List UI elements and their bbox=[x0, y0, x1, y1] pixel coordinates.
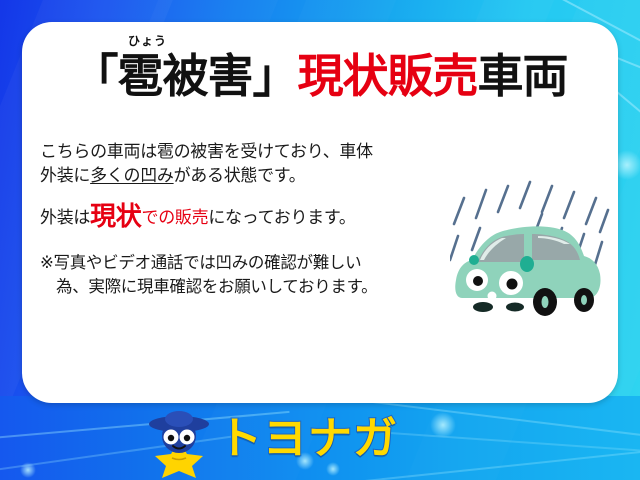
paragraph-3-line-2: 為、実際に現車確認をお願いしております。 bbox=[40, 276, 460, 300]
paragraph-1-line-2-prefix: 外装に bbox=[40, 166, 90, 185]
paragraph-2-emphasis-large: 現状 bbox=[90, 201, 141, 231]
title-ruby-text: ひょう bbox=[117, 35, 179, 47]
title-segment-2: 現状販売 bbox=[298, 50, 478, 102]
title-segment-3: 車両 bbox=[478, 50, 568, 102]
info-card: ひょう 「雹被害」現状販売車両 こちらの車両は雹の被害を受けており、車体 外装に… bbox=[22, 22, 618, 403]
title-ruby-holder: ひょう 「雹被害」現状販売車両 bbox=[73, 38, 568, 101]
paragraph-1-line-1: こちらの車両は雹の被害を受けており、車体 bbox=[40, 140, 460, 164]
paragraph-1: こちらの車両は雹の被害を受けており、車体 外装に多くの凹みがある状態です。 bbox=[40, 140, 460, 188]
brand-name: トヨナガ bbox=[218, 417, 398, 461]
paragraph-2-emphasis-small: での販売 bbox=[142, 208, 209, 227]
page-title: ひょう 「雹被害」現状販売車両 bbox=[22, 38, 618, 101]
paragraph-1-underlined-phrase: 多くの凹み bbox=[90, 166, 174, 185]
body-text-block: こちらの車両は雹の被害を受けており、車体 外装に多くの凹みがある状態です。 外装… bbox=[40, 140, 460, 300]
cartoon-car-in-hail-icon bbox=[450, 180, 614, 342]
paragraph-2-suffix: になっております。 bbox=[208, 208, 355, 227]
paragraph-2-prefix: 外装は bbox=[40, 208, 90, 227]
paragraph-2: 外装は現状での販売になっております。 bbox=[40, 201, 460, 232]
title-segment-1: 「雹被害」 bbox=[73, 50, 298, 102]
toyonaga-mascot-icon bbox=[142, 408, 216, 478]
paragraph-3-line-1: ※写真やビデオ通話では凹みの確認が難しい bbox=[40, 252, 460, 276]
paragraph-1-line-2: 外装に多くの凹みがある状態です。 bbox=[40, 164, 460, 188]
paragraph-1-line-2-suffix: がある状態です。 bbox=[174, 166, 306, 185]
paragraph-3: ※写真やビデオ通話では凹みの確認が難しい 為、実際に現車確認をお願いしております… bbox=[40, 252, 460, 300]
footer-bar: トヨナガ トヨナガ bbox=[0, 403, 640, 480]
